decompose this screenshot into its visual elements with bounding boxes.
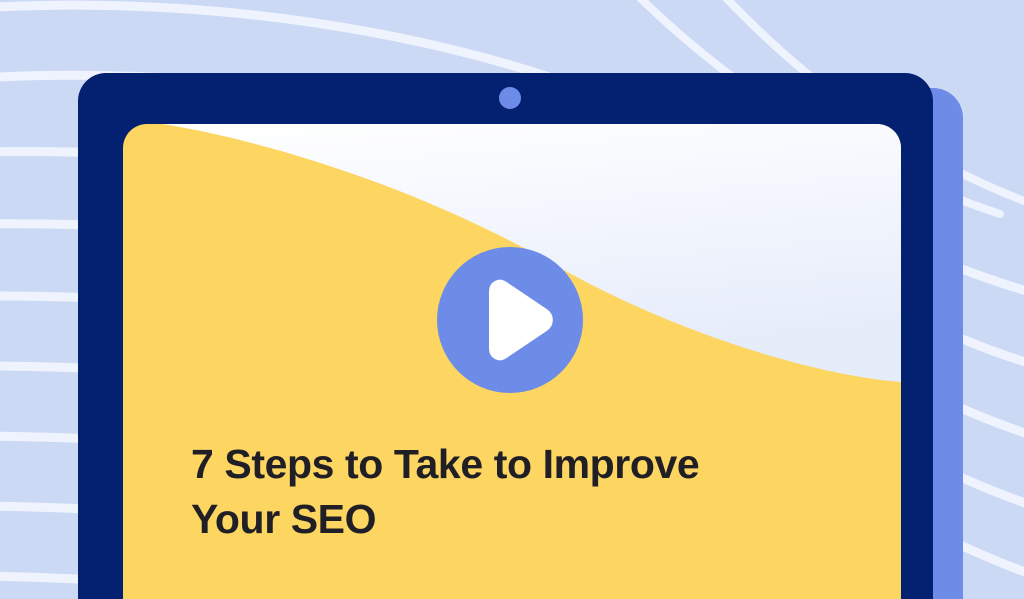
video-title: 7 Steps to Take to Improve Your SEO [191,437,811,547]
play-button[interactable] [437,247,583,393]
camera-icon [499,87,521,109]
play-triangle-icon [437,247,583,393]
thumbnail-scene: 7 Steps to Take to Improve Your SEO [0,0,1024,599]
